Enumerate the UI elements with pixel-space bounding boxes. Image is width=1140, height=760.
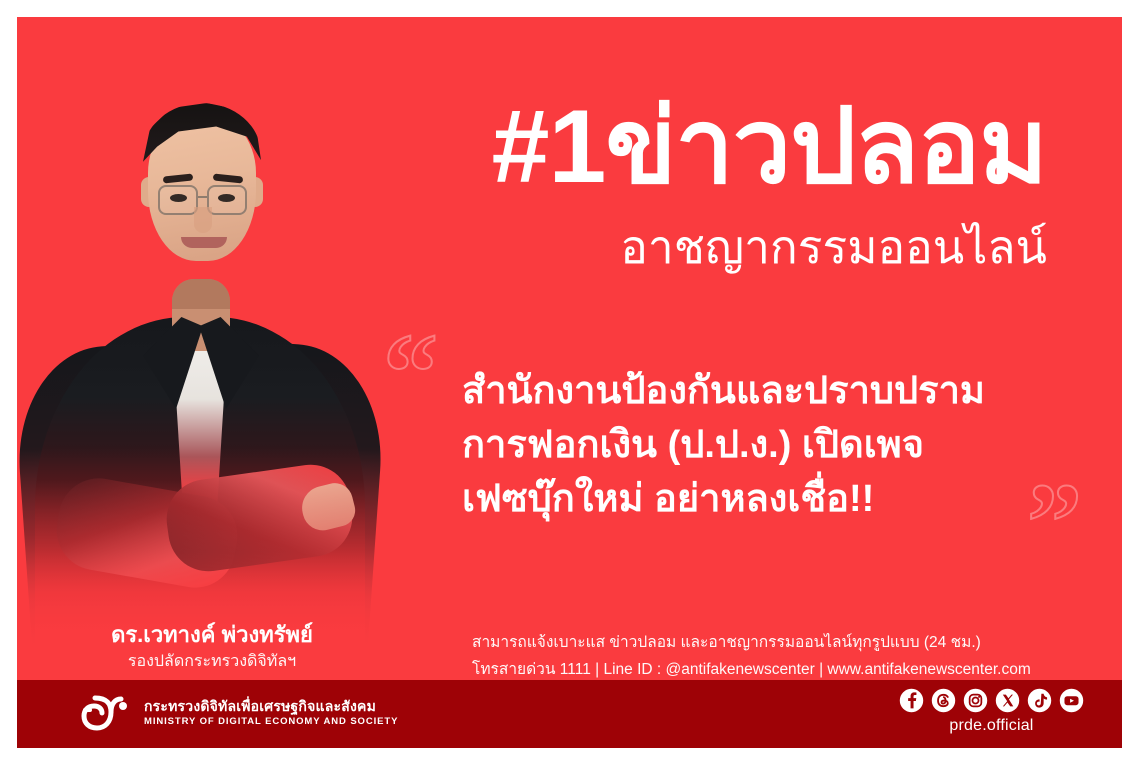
- instagram-icon[interactable]: [963, 688, 988, 713]
- contact-line-1: สามารถแจ้งเบาะแส ข่าวปลอม และอาชญากรรมออ…: [472, 629, 1092, 656]
- contact-info: สามารถแจ้งเบาะแส ข่าวปลอม และอาชญากรรมออ…: [472, 629, 1092, 683]
- quote-line-3: เฟซบุ๊กใหม่ อย่าหลงเชื่อ!!: [462, 473, 1062, 527]
- headline-text: #1ข่าวปลอม: [347, 95, 1047, 199]
- quote-open-icon: “: [383, 317, 438, 427]
- social-icon-row: [899, 688, 1084, 713]
- x-icon[interactable]: [995, 688, 1020, 713]
- ministry-name-th: กระทรวงดิจิทัลเพื่อเศรษฐกิจและสังคม: [144, 697, 398, 715]
- threads-icon[interactable]: [931, 688, 956, 713]
- footer-bar: กระทรวงดิจิทัลเพื่อเศรษฐกิจและสังคม MINI…: [17, 680, 1122, 748]
- social-block: prde.official: [899, 688, 1084, 735]
- ministry-logo-icon: [77, 690, 131, 736]
- portrait-glasses-left: [158, 185, 198, 215]
- portrait-illustration: [17, 17, 387, 680]
- ministry-brand: กระทรวงดิจิทัลเพื่อเศรษฐกิจและสังคม MINI…: [77, 690, 398, 736]
- portrait-glasses-right: [207, 185, 247, 215]
- ministry-name-en: MINISTRY OF DIGITAL ECONOMY AND SOCIETY: [144, 715, 398, 728]
- headline: #1ข่าวปลอม: [347, 95, 1047, 199]
- portrait-mouth: [181, 237, 227, 248]
- logo-dot: [119, 702, 127, 710]
- poster-canvas: #1ข่าวปลอม อาชญากรรมออนไลน์ “ ” สำนักงาน…: [0, 0, 1140, 760]
- quote-line-1: สำนักงานป้องกันและปราบปราม: [462, 365, 1062, 419]
- portrait-glasses-bridge: [198, 196, 207, 198]
- speaker-portrait: [17, 17, 387, 680]
- facebook-icon[interactable]: [899, 688, 924, 713]
- speaker-caption: ดร.เวทางค์ พ่วงทรัพย์ รองปลัดกระทรวงดิจิ…: [47, 621, 377, 674]
- subheadline-text: อาชญากรรมออนไลน์: [347, 222, 1047, 273]
- portrait-nose: [194, 207, 212, 233]
- social-handle[interactable]: prde.official: [899, 717, 1084, 735]
- portrait-neck-shadow: [172, 279, 230, 309]
- quote-line-2: การฟอกเงิน (ป.ป.ง.) เปิดเพจ: [462, 419, 1062, 473]
- ministry-name-block: กระทรวงดิจิทัลเพื่อเศรษฐกิจและสังคม MINI…: [144, 697, 398, 728]
- poster-card: #1ข่าวปลอม อาชญากรรมออนไลน์ “ ” สำนักงาน…: [17, 17, 1122, 748]
- youtube-icon[interactable]: [1059, 688, 1084, 713]
- tiktok-icon[interactable]: [1027, 688, 1052, 713]
- speaker-role: รองปลัดกระทรวงดิจิทัลฯ: [47, 650, 377, 674]
- quote-block: สำนักงานป้องกันและปราบปราม การฟอกเงิน (ป…: [462, 365, 1062, 527]
- speaker-name: ดร.เวทางค์ พ่วงทรัพย์: [47, 621, 377, 650]
